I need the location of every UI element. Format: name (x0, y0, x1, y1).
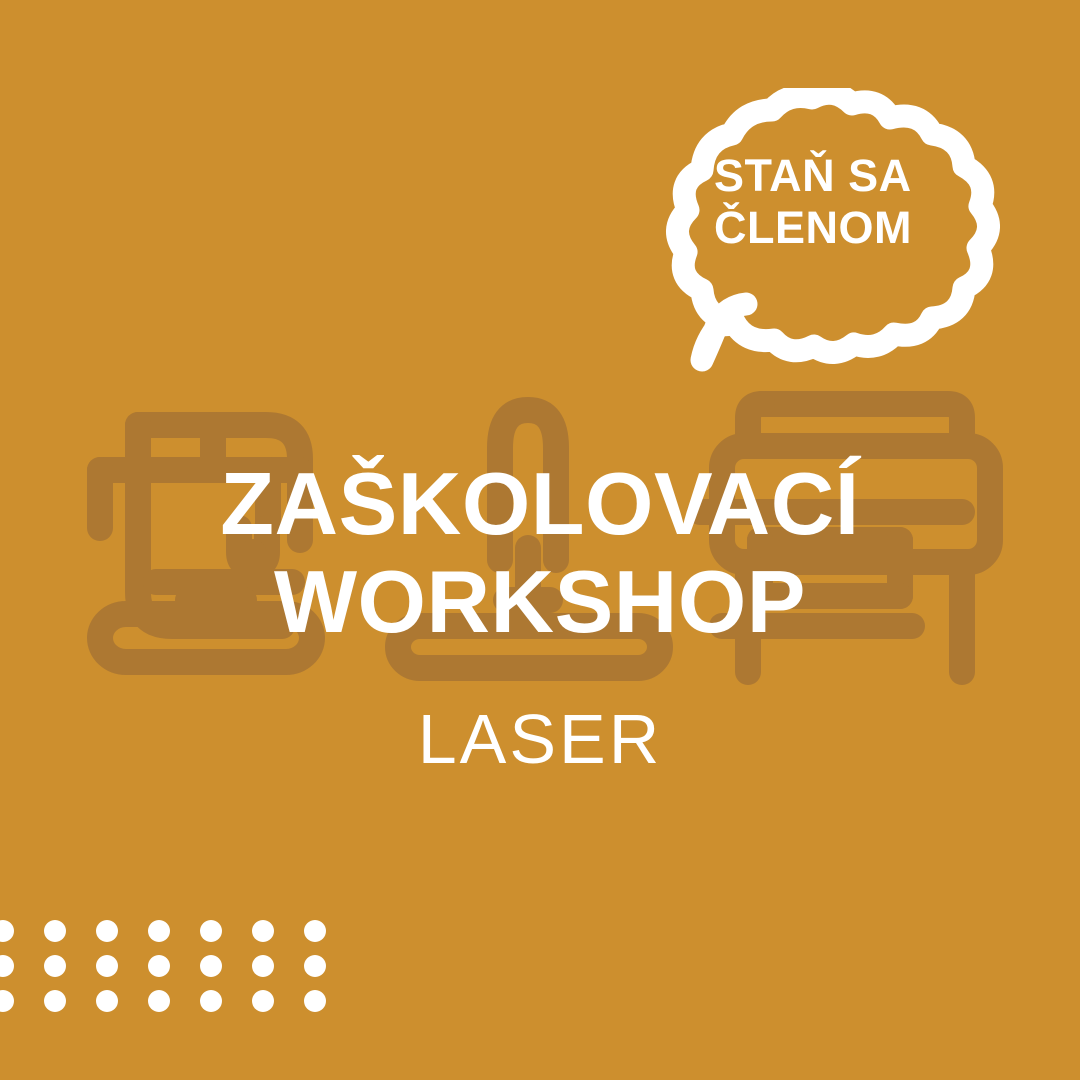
dot-grid-dot (0, 990, 14, 1012)
dot-grid-dot (252, 990, 274, 1012)
dot-grid-dot (200, 920, 222, 942)
membership-badge-label: STAŇ SA ČLENOM (714, 150, 954, 254)
dot-grid-dot (148, 955, 170, 977)
dot-grid-dot (44, 920, 66, 942)
membership-badge[interactable]: STAŇ SA ČLENOM (628, 88, 1000, 378)
dot-grid-dot (252, 920, 274, 942)
dot-grid-dot (96, 920, 118, 942)
page-title: ZAŠKOLOVACÍ WORKSHOP (0, 455, 1080, 651)
dot-grid-dot (200, 990, 222, 1012)
dot-grid-dot (0, 920, 14, 942)
dot-grid-dot (0, 955, 14, 977)
dot-grid-dot (148, 990, 170, 1012)
dot-grid-dot (304, 990, 326, 1012)
dot-grid-dot (96, 990, 118, 1012)
dot-grid-dot (148, 920, 170, 942)
dot-grid-dot (304, 955, 326, 977)
page-subtitle: LASER (0, 700, 1080, 778)
dot-grid-dot (200, 955, 222, 977)
dot-grid-dot (252, 955, 274, 977)
dot-grid-dot (304, 920, 326, 942)
dot-grid-decoration (0, 920, 372, 1030)
dot-grid-dot (96, 955, 118, 977)
dot-grid-dot (44, 990, 66, 1012)
dot-grid-dot (44, 955, 66, 977)
poster-canvas: STAŇ SA ČLENOM ZAŠKOLOVACÍ WORKSHOP LASE… (0, 0, 1080, 1080)
